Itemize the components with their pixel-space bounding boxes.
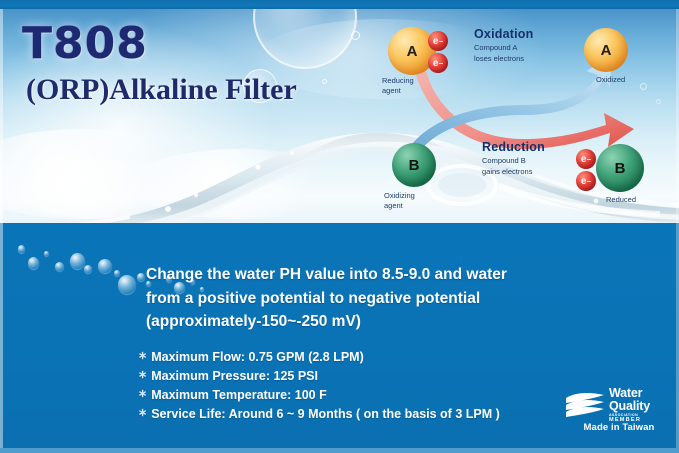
title-block: T808 (ORP)Alkaline Filter	[22, 22, 297, 106]
oxidation-desc-line1: Compound A	[474, 43, 524, 54]
reduction-desc-line1: Compound B	[482, 156, 532, 167]
oxidation-desc-line2: loses electrons	[474, 54, 524, 65]
spec-text: Maximum Flow: 0.75 GPM (2.8 LPM)	[151, 348, 364, 367]
electron-charge: −	[438, 37, 443, 46]
oxidizing-agent-label-line1: Oxidizing	[384, 191, 415, 201]
made-in-label: Made in Taiwan	[568, 422, 670, 433]
bullet-icon: ∗	[138, 367, 147, 385]
reduced-label: Reduced	[606, 195, 636, 205]
bubble-small-icon	[322, 79, 327, 84]
water-droplet	[118, 275, 136, 294]
sphere-label-a-oxidized: A	[601, 42, 612, 59]
reducing-agent-label-line2: agent	[382, 86, 414, 96]
list-item: ∗ Maximum Flow: 0.75 GPM (2.8 LPM)	[138, 348, 608, 367]
list-item: ∗ Service Life: Around 6 ~ 9 Months ( on…	[138, 405, 608, 424]
description-line-2: from a positive potential to negative po…	[146, 287, 616, 311]
oxidizing-agent-label-line2: agent	[384, 201, 415, 211]
sphere-oxidizing-agent: B	[392, 143, 436, 187]
wqa-logo-text: Water Quality ASSOCIATION MEMBER	[609, 387, 650, 423]
water-droplet	[98, 259, 112, 273]
wqa-logo: Water Quality ASSOCIATION MEMBER Made in…	[564, 387, 668, 435]
bullet-icon: ∗	[138, 348, 147, 366]
product-subtitle: (ORP)Alkaline Filter	[26, 74, 297, 106]
bullet-icon: ∗	[138, 405, 147, 423]
spec-text: Maximum Temperature: 100 F	[151, 386, 327, 405]
water-droplet	[44, 251, 49, 256]
water-droplet	[18, 245, 25, 253]
sphere-reduced: B	[596, 144, 644, 192]
sphere-oxidized: A	[584, 28, 628, 72]
reduction-heading: Reduction	[482, 140, 545, 154]
wqa-word-water: Water	[609, 387, 650, 400]
list-item: ∗ Maximum Pressure: 125 PSI	[138, 367, 608, 386]
wqa-mark-svg	[564, 391, 606, 419]
spec-text: Service Life: Around 6 ~ 9 Months ( on t…	[151, 405, 500, 424]
water-droplet	[28, 257, 39, 269]
description-line-3: (approximately-150~-250 mV)	[146, 310, 616, 334]
redox-diagram: A e− e− Reducing agent Oxidation Compoun…	[372, 9, 679, 223]
top-accent-bar	[0, 0, 679, 9]
electron-charge: −	[586, 177, 591, 186]
wave-streak	[0, 215, 130, 223]
oxidation-description: Compound A loses electrons	[474, 43, 524, 65]
description-line-1: Change the water PH value into 8.5-9.0 a…	[146, 263, 616, 287]
left-edge-border	[0, 9, 3, 448]
sphere-label-b-reduced: B	[615, 160, 626, 177]
description-text: Change the water PH value into 8.5-9.0 a…	[146, 263, 616, 334]
wave-droplet	[255, 164, 260, 169]
reduction-desc-line2: gains electrons	[482, 167, 532, 178]
electron-icon: e−	[576, 149, 596, 169]
water-droplet	[70, 253, 85, 269]
reducing-agent-label: Reducing agent	[382, 76, 414, 96]
water-droplet	[84, 265, 92, 273]
electron-charge: −	[586, 155, 591, 164]
water-droplet	[55, 262, 64, 271]
electron-icon: e−	[428, 53, 448, 73]
spec-text: Maximum Pressure: 125 PSI	[151, 367, 318, 386]
electron-icon: e−	[428, 31, 448, 51]
reducing-agent-label-line1: Reducing	[382, 76, 414, 86]
oxidized-label: Oxidized	[596, 75, 625, 85]
list-item: ∗ Maximum Temperature: 100 F	[138, 386, 608, 405]
electron-icon: e−	[576, 171, 596, 191]
wqa-wave-mark-icon	[564, 391, 606, 419]
bubble-small-icon	[351, 31, 360, 40]
wqa-word-quality: Quality	[609, 400, 650, 413]
sphere-label-a: A	[407, 43, 418, 60]
sphere-label-b: B	[409, 157, 420, 174]
oxidation-heading: Oxidation	[474, 27, 533, 41]
reduction-description: Compound B gains electrons	[482, 156, 532, 178]
wave-droplet	[194, 193, 198, 197]
product-poster: T808 (ORP)Alkaline Filter	[0, 0, 679, 453]
wave-droplet	[290, 151, 294, 155]
oxidizing-agent-label: Oxidizing agent	[384, 191, 415, 211]
bullet-icon: ∗	[138, 386, 147, 404]
water-droplet	[114, 270, 120, 276]
wave-droplet	[165, 206, 171, 212]
bottom-accent-strip	[0, 448, 679, 453]
electron-charge: −	[438, 59, 443, 68]
spec-list: ∗ Maximum Flow: 0.75 GPM (2.8 LPM) ∗ Max…	[138, 348, 608, 424]
water-droplet	[137, 273, 145, 281]
product-title: T808	[22, 22, 297, 66]
